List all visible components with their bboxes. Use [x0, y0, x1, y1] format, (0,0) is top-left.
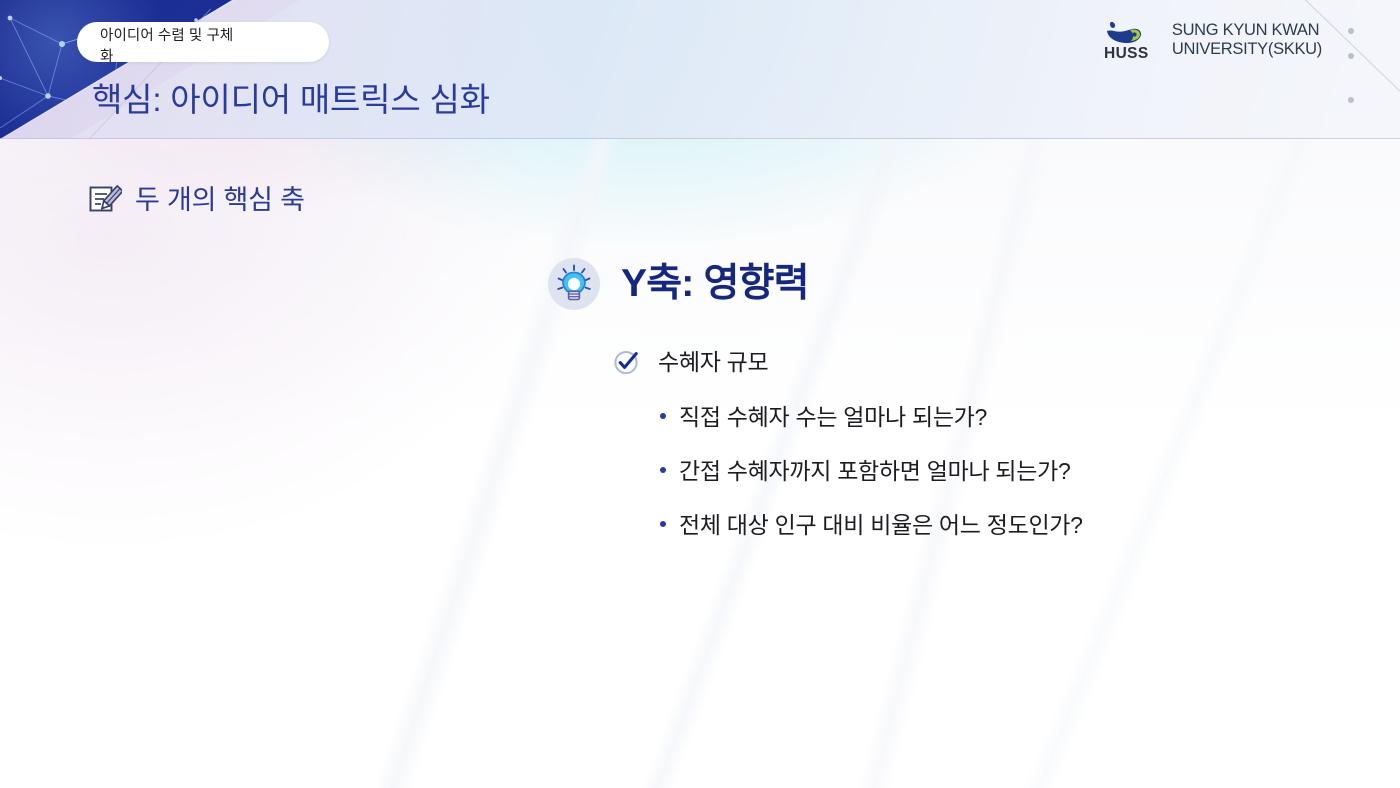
presentation-slide: 아이디어 수렴 및 구체 화 핵심: 아이디어 매트릭스 심화 HUSS SUN… — [0, 0, 1400, 788]
bullet-item-text: 직접 수혜자 수는 얼마나 되는가? — [679, 402, 987, 432]
axis-title: Y축: 영향력 — [621, 259, 809, 309]
slide-header-band: 아이디어 수렴 및 구체 화 핵심: 아이디어 매트릭스 심화 HUSS SUN… — [0, 0, 1400, 139]
bullet-dot-icon — [660, 413, 666, 419]
decorative-dot-icon — [1348, 28, 1354, 34]
section-heading-label: 두 개의 핵심 축 — [135, 182, 305, 218]
bullet-dot-icon — [660, 521, 666, 527]
decorative-dot-icon — [1348, 97, 1354, 103]
axis-bullet-list: 직접 수혜자 수는 얼마나 되는가? 간접 수혜자까지 포함하면 얼마나 되는가… — [660, 402, 1348, 540]
bullet-item: 전체 대상 인구 대비 비율은 어느 정도인가? — [660, 510, 1348, 540]
slide-title: 핵심: 아이디어 매트릭스 심화 — [92, 79, 490, 121]
decorative-dot-icon — [1348, 53, 1354, 59]
header-divider-line — [0, 138, 1400, 139]
bullet-item: 직접 수혜자 수는 얼마나 되는가? — [660, 402, 1348, 432]
memo-pencil-icon — [88, 183, 122, 217]
axis-title-row: Y축: 영향력 — [548, 258, 1348, 310]
university-brand-logo: HUSS SUNG KYUN KWAN UNIVERSITY(SKKU) — [1101, 18, 1322, 62]
bullet-item-text: 전체 대상 인구 대비 비율은 어느 정도인가? — [679, 510, 1083, 540]
axis-content-block: Y축: 영향력 수혜자 규모 직접 수혜자 수는 얼마나 되는가? 간접 수혜자… — [548, 258, 1348, 564]
topic-badge-label: 아이디어 수렴 및 구체 화 — [100, 26, 300, 68]
bullet-item-text: 간접 수혜자까지 포함하면 얼마나 되는가? — [679, 456, 1070, 486]
lightbulb-icon — [548, 258, 600, 310]
bullet-dot-icon — [660, 467, 666, 473]
axis-subpoint-label: 수혜자 규모 — [658, 347, 768, 377]
section-heading: 두 개의 핵심 축 — [88, 182, 305, 218]
bullet-item: 간접 수혜자까지 포함하면 얼마나 되는가? — [660, 456, 1348, 486]
svg-text:HUSS: HUSS — [1104, 45, 1149, 62]
axis-subpoint-row: 수혜자 규모 — [612, 347, 1348, 377]
huss-logo-mark-icon: HUSS — [1101, 18, 1159, 62]
decorative-dots-group — [1348, 28, 1354, 122]
check-circle-icon — [612, 348, 640, 376]
university-name-text: SUNG KYUN KWAN UNIVERSITY(SKKU) — [1172, 21, 1322, 59]
